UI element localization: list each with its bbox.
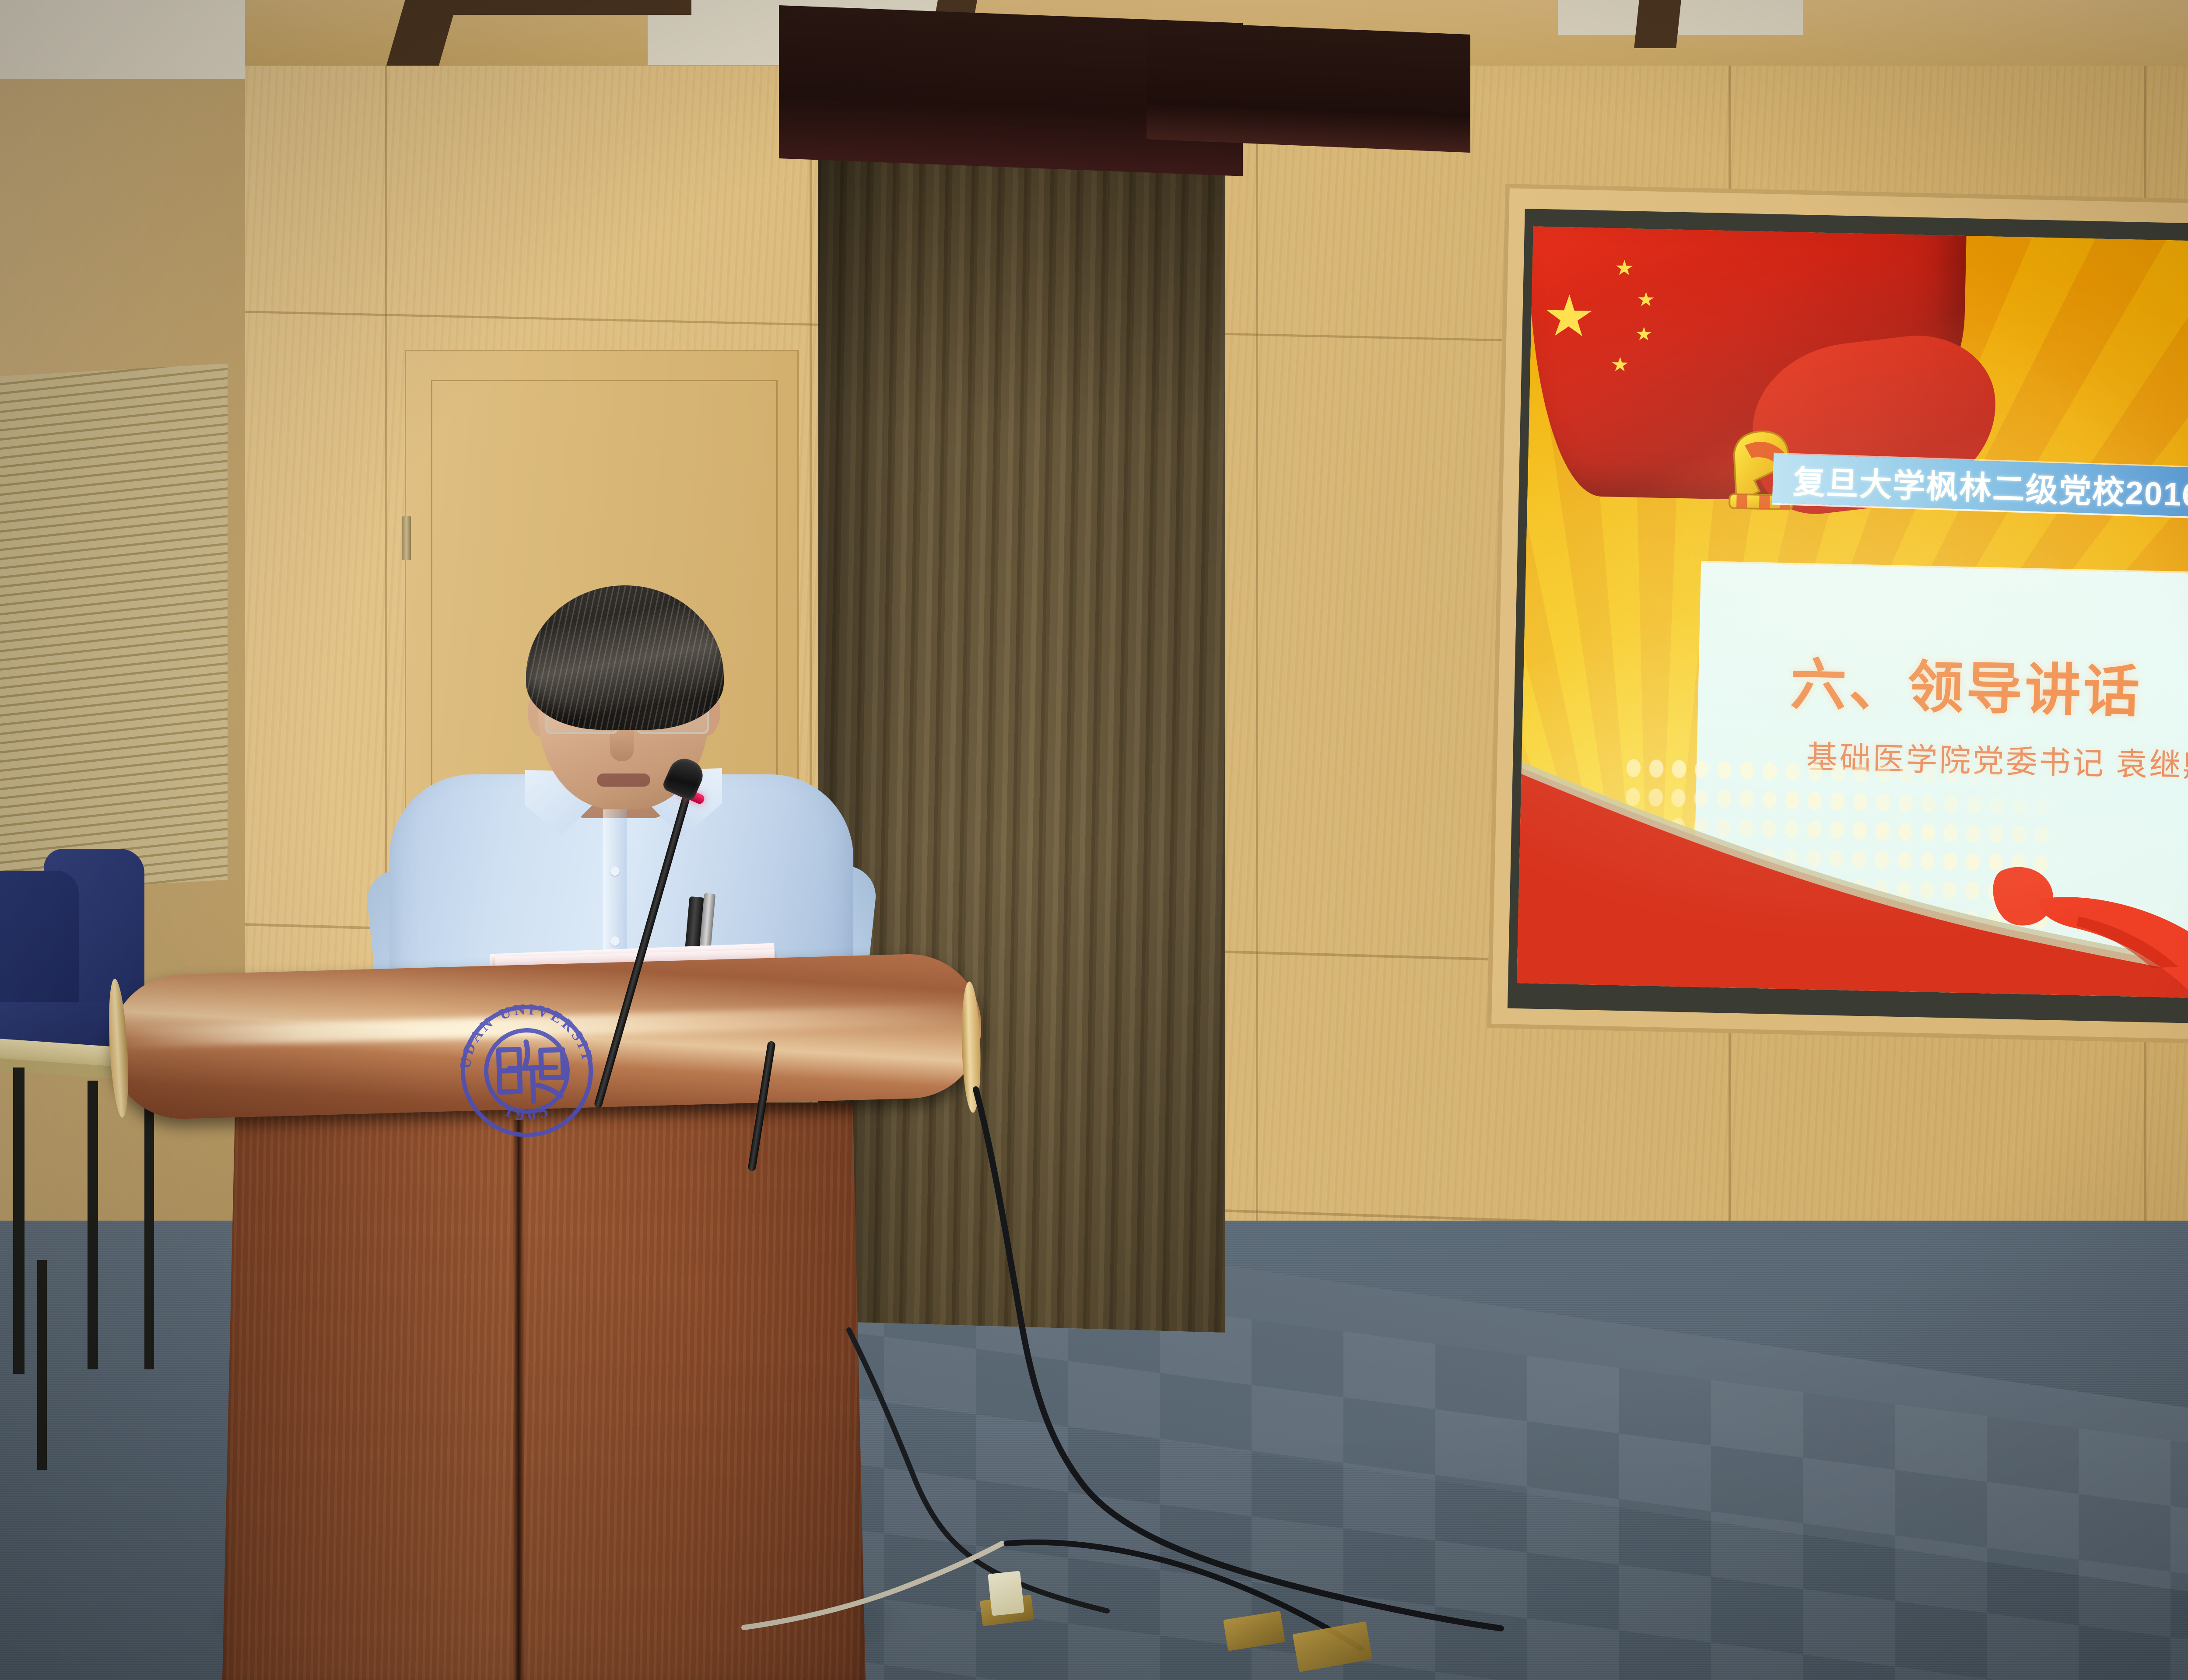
ceiling-beam <box>446 0 691 15</box>
svg-text:1905: 1905 <box>501 1099 555 1125</box>
cable-tape-clip <box>988 1571 1024 1616</box>
ceiling-beam <box>1634 0 1681 48</box>
chair-backrest[interactable] <box>0 871 79 1024</box>
door-hinge-icon <box>402 516 411 560</box>
red-ribbon-decoration <box>1517 716 2188 1004</box>
speaker-mouth <box>597 773 650 787</box>
flag-star-icon <box>1615 260 1633 277</box>
shirt-button <box>610 866 620 876</box>
curtain-valance <box>1147 21 1470 153</box>
speaker-hair <box>526 585 724 730</box>
projection-screen-frame: 复旦大学枫林二级党校2016年春入党积极分子培训班 <box>1487 184 2188 1050</box>
lecture-hall-scene: 复旦大学枫林二级党校2016年春入党积极分子培训班 <box>0 0 2188 1680</box>
fudan-university-seal-icon: FUDAN UNIVERSITY 1905 <box>452 996 601 1145</box>
flag-star-icon <box>1636 327 1652 342</box>
seal-year-text: 1905 <box>501 1099 555 1125</box>
shirt-button <box>610 936 620 946</box>
slide-title: 六、领导讲话 <box>1789 639 2143 728</box>
flag-star-icon <box>1637 292 1655 308</box>
speaker-figure <box>381 564 871 1002</box>
flag-star-icon <box>1612 357 1629 373</box>
hair-strands <box>526 585 724 730</box>
acoustic-slat-panel <box>0 364 228 892</box>
floor-cables <box>0 1050 2188 1680</box>
flag-star-icon <box>1545 294 1593 340</box>
projected-slide: 复旦大学枫林二级党校2016年春入党积极分子培训班 <box>1517 226 2188 1004</box>
